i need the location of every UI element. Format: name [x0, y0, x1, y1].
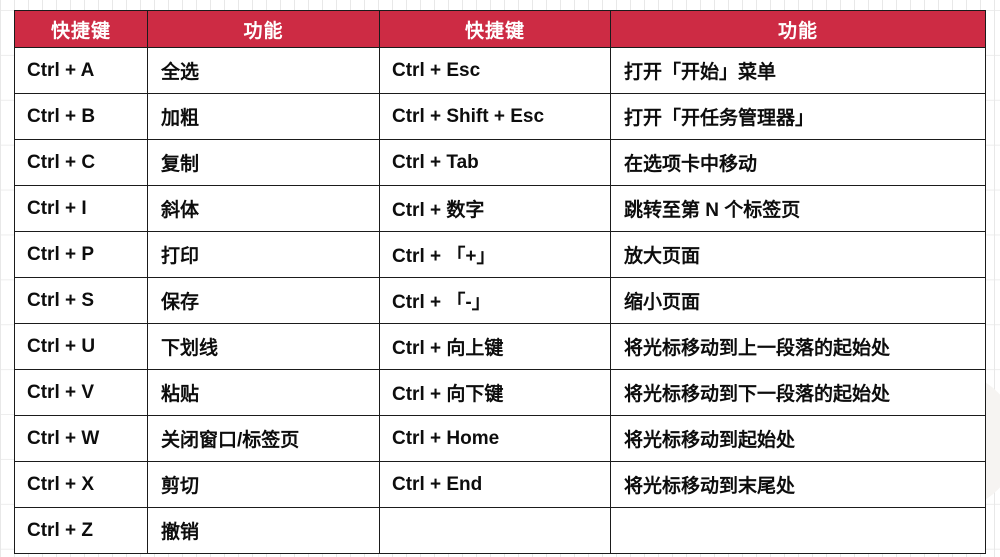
cell-function-left-text: 粘贴: [148, 379, 379, 406]
cell-function-left-text: 关闭窗口/标签页: [148, 425, 379, 452]
cell-function-left-text: 剪切: [148, 471, 379, 498]
table-row: Ctrl + V粘贴Ctrl + 向下键将光标移动到下一段落的起始处: [15, 370, 986, 416]
cell-function-left: 复制: [148, 140, 380, 186]
cell-shortcut-left-text: Ctrl + P: [15, 244, 147, 266]
cell-shortcut-right: Ctrl + Esc: [380, 48, 611, 94]
cell-function-left: 粘贴: [148, 370, 380, 416]
cell-shortcut-left: Ctrl + U: [15, 324, 148, 370]
cell-shortcut-right: Ctrl + 向下键: [380, 370, 611, 416]
table-row: Ctrl + W关闭窗口/标签页Ctrl + Home将光标移动到起始处: [15, 416, 986, 462]
cell-shortcut-left: Ctrl + V: [15, 370, 148, 416]
cell-function-right: 在选项卡中移动: [611, 140, 986, 186]
cell-function-left: 加粗: [148, 94, 380, 140]
cell-shortcut-left-text: Ctrl + V: [15, 382, 147, 404]
cell-shortcut-right-text: Ctrl + Esc: [380, 60, 610, 82]
cell-shortcut-left: Ctrl + W: [15, 416, 148, 462]
table-body: Ctrl + A全选Ctrl + Esc打开「开始」菜单Ctrl + B加粗Ct…: [15, 48, 986, 554]
table-row: Ctrl + A全选Ctrl + Esc打开「开始」菜单: [15, 48, 986, 94]
column-header-shortcut-left: 快捷键: [15, 11, 148, 48]
cell-function-left-text: 全选: [148, 57, 379, 84]
cell-function-right-text: 将光标移动到末尾处: [611, 471, 985, 498]
cell-function-left-text: 撤销: [148, 517, 379, 544]
cell-function-left: 打印: [148, 232, 380, 278]
cell-shortcut-right-text: Ctrl + 向下键: [380, 379, 610, 406]
cell-function-left: 剪切: [148, 462, 380, 508]
cell-shortcut-left-text: Ctrl + A: [15, 60, 147, 82]
cell-function-left: 斜体: [148, 186, 380, 232]
cell-shortcut-right-text: Ctrl + 「+」: [380, 241, 610, 268]
cell-shortcut-left-text: Ctrl + U: [15, 336, 147, 358]
cell-shortcut-left: Ctrl + I: [15, 186, 148, 232]
cell-shortcut-right: Ctrl + 「-」: [380, 278, 611, 324]
cell-function-left: 保存: [148, 278, 380, 324]
cell-shortcut-left: Ctrl + S: [15, 278, 148, 324]
cell-function-right-text: 将光标移动到起始处: [611, 425, 985, 452]
cell-function-left-text: 斜体: [148, 195, 379, 222]
column-header-function-left: 功能: [148, 11, 380, 48]
cell-shortcut-right-text: Ctrl + 数字: [380, 195, 610, 222]
cell-function-right: 将光标移动到起始处: [611, 416, 986, 462]
cell-shortcut-right: Ctrl + 「+」: [380, 232, 611, 278]
cell-function-right: 放大页面: [611, 232, 986, 278]
cell-function-right-text: 放大页面: [611, 241, 985, 268]
table-header-row: 快捷键 功能 快捷键 功能: [15, 11, 986, 48]
table-row: Ctrl + Z撤销: [15, 508, 986, 554]
cell-shortcut-right-text: Ctrl + Home: [380, 428, 610, 450]
cell-shortcut-right-text: Ctrl + Shift + Esc: [380, 106, 610, 128]
table-row: Ctrl + I斜体Ctrl + 数字跳转至第 N 个标签页: [15, 186, 986, 232]
cell-shortcut-right-text: Ctrl + 向上键: [380, 333, 610, 360]
cell-function-right: 打开「开任务管理器」: [611, 94, 986, 140]
cell-shortcut-right-text: Ctrl + 「-」: [380, 287, 610, 314]
cell-function-left: 全选: [148, 48, 380, 94]
cell-shortcut-left: Ctrl + B: [15, 94, 148, 140]
shortcut-table-container: 快捷键 功能 快捷键 功能 Ctrl + A全选Ctrl + Esc打开「开始」…: [14, 10, 985, 554]
cell-function-right-text: 打开「开任务管理器」: [611, 103, 985, 130]
table-row: Ctrl + P打印Ctrl + 「+」放大页面: [15, 232, 986, 278]
cell-function-left: 撤销: [148, 508, 380, 554]
cell-shortcut-left-text: Ctrl + X: [15, 474, 147, 496]
cell-shortcut-left-text: Ctrl + C: [15, 152, 147, 174]
cell-function-right: 跳转至第 N 个标签页: [611, 186, 986, 232]
cell-shortcut-right: Ctrl + 向上键: [380, 324, 611, 370]
cell-function-right-text: 在选项卡中移动: [611, 149, 985, 176]
table-row: Ctrl + X剪切Ctrl + End将光标移动到末尾处: [15, 462, 986, 508]
cell-function-left-text: 保存: [148, 287, 379, 314]
cell-shortcut-right: Ctrl + 数字: [380, 186, 611, 232]
cell-shortcut-left: Ctrl + Z: [15, 508, 148, 554]
cell-shortcut-right-text: Ctrl + End: [380, 474, 610, 496]
cell-function-right: 将光标移动到下一段落的起始处: [611, 370, 986, 416]
table-row: Ctrl + U下划线Ctrl + 向上键将光标移动到上一段落的起始处: [15, 324, 986, 370]
cell-shortcut-left-text: Ctrl + I: [15, 198, 147, 220]
cell-function-left-text: 复制: [148, 149, 379, 176]
cell-shortcut-right-text: Ctrl + Tab: [380, 152, 610, 174]
cell-function-right-text: 跳转至第 N 个标签页: [611, 195, 985, 222]
cell-shortcut-left: Ctrl + P: [15, 232, 148, 278]
cell-function-left-text: 打印: [148, 241, 379, 268]
table-row: Ctrl + B加粗Ctrl + Shift + Esc打开「开任务管理器」: [15, 94, 986, 140]
windows-shortcuts-table: 快捷键 功能 快捷键 功能 Ctrl + A全选Ctrl + Esc打开「开始」…: [14, 10, 986, 554]
cell-function-left: 下划线: [148, 324, 380, 370]
cell-shortcut-left: Ctrl + A: [15, 48, 148, 94]
cell-shortcut-right-empty: [380, 508, 611, 554]
cell-shortcut-left: Ctrl + C: [15, 140, 148, 186]
cell-function-left-text: 下划线: [148, 333, 379, 360]
cell-shortcut-left-text: Ctrl + S: [15, 290, 147, 312]
table-header: 快捷键 功能 快捷键 功能: [15, 11, 986, 48]
cell-shortcut-left-text: Ctrl + B: [15, 106, 147, 128]
cell-function-right-text: 缩小页面: [611, 287, 985, 314]
column-header-shortcut-right: 快捷键: [380, 11, 611, 48]
cell-function-right-text: 将光标移动到上一段落的起始处: [611, 333, 985, 360]
cell-function-right: 将光标移动到上一段落的起始处: [611, 324, 986, 370]
cell-shortcut-right: Ctrl + End: [380, 462, 611, 508]
table-row: Ctrl + C复制Ctrl + Tab在选项卡中移动: [15, 140, 986, 186]
cell-function-right-text: 将光标移动到下一段落的起始处: [611, 379, 985, 406]
cell-function-right-text: 打开「开始」菜单: [611, 57, 985, 84]
cell-shortcut-left-text: Ctrl + Z: [15, 520, 147, 542]
cell-shortcut-left-text: Ctrl + W: [15, 428, 147, 450]
column-header-function-right: 功能: [611, 11, 986, 48]
cell-function-left: 关闭窗口/标签页: [148, 416, 380, 462]
cell-shortcut-left: Ctrl + X: [15, 462, 148, 508]
cell-function-right: 缩小页面: [611, 278, 986, 324]
cell-shortcut-right: Ctrl + Shift + Esc: [380, 94, 611, 140]
cell-function-right: 打开「开始」菜单: [611, 48, 986, 94]
cell-function-right: 将光标移动到末尾处: [611, 462, 986, 508]
cell-shortcut-right: Ctrl + Home: [380, 416, 611, 462]
cell-function-left-text: 加粗: [148, 103, 379, 130]
table-row: Ctrl + S保存Ctrl + 「-」缩小页面: [15, 278, 986, 324]
cell-shortcut-right: Ctrl + Tab: [380, 140, 611, 186]
cell-function-right-empty: [611, 508, 986, 554]
